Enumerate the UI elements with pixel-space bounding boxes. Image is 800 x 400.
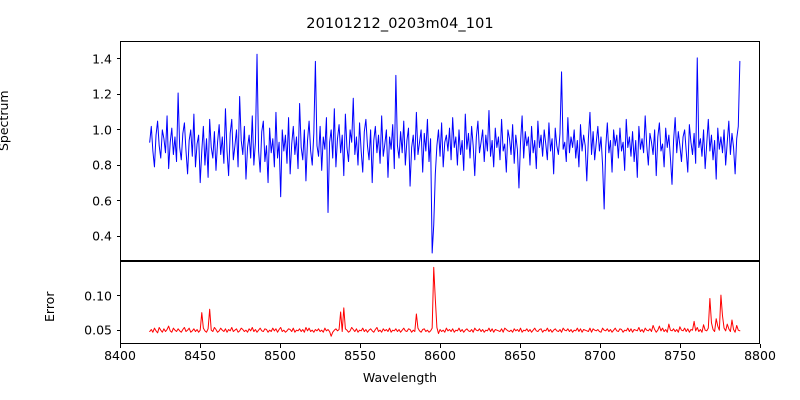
y-tick-label-spectrum: 1.0 [0, 122, 112, 137]
y-tick-spectrum [117, 236, 121, 237]
spectrum-line-plot [121, 42, 759, 260]
y-tick-spectrum [117, 94, 121, 95]
x-tick-label: 8450 [184, 348, 216, 363]
y-tick-error [117, 330, 121, 331]
x-tick-error [600, 344, 601, 348]
x-tick-error [440, 344, 441, 348]
y-tick-spectrum [117, 200, 121, 201]
error-line-plot [121, 262, 759, 343]
x-tick-error [280, 344, 281, 348]
x-tick-label: 8800 [744, 348, 776, 363]
y-tick-label-spectrum: 1.2 [0, 87, 112, 102]
x-tick-label: 8550 [344, 348, 376, 363]
figure-title: 20101212_0203m04_101 [0, 16, 800, 32]
y-tick-label-spectrum: 0.8 [0, 158, 112, 173]
x-tick-label: 8650 [504, 348, 536, 363]
x-tick-error [360, 344, 361, 348]
y-tick-label-spectrum: 0.4 [0, 229, 112, 244]
spectrum-axes [120, 41, 760, 261]
x-axis-label-wavelength: Wavelength [0, 370, 800, 385]
y-tick-spectrum [117, 129, 121, 130]
y-axis-label-spectrum: Spectrum [0, 90, 11, 151]
y-tick-label-spectrum: 1.4 [0, 51, 112, 66]
x-tick-label: 8400 [104, 348, 136, 363]
x-tick-label: 8750 [664, 348, 696, 363]
matplotlib-figure: 20101212_0203m04_101 0.40.60.81.01.21.40… [0, 0, 800, 400]
y-axis-label-error: Error [42, 292, 57, 322]
x-tick-label: 8600 [424, 348, 456, 363]
x-tick-error [680, 344, 681, 348]
error-axes [120, 261, 760, 344]
y-tick-error [117, 295, 121, 296]
x-tick-error [120, 344, 121, 348]
y-tick-label-error: 0.05 [0, 323, 112, 338]
x-tick-label: 8700 [584, 348, 616, 363]
x-tick-error [200, 344, 201, 348]
x-tick-error [520, 344, 521, 348]
x-tick-label: 8500 [264, 348, 296, 363]
y-tick-spectrum [117, 165, 121, 166]
y-tick-label-spectrum: 0.6 [0, 193, 112, 208]
y-tick-spectrum [117, 58, 121, 59]
x-tick-error [760, 344, 761, 348]
